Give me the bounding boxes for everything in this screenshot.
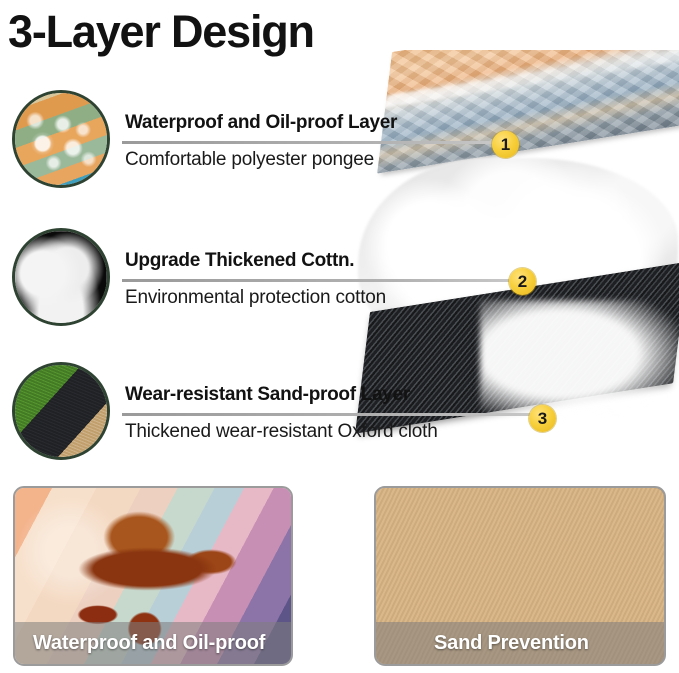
feature-1-subtitle: Comfortable polyester pongee bbox=[125, 149, 374, 171]
feature-3-subtitle: Thickened wear-resistant Oxford cloth bbox=[125, 421, 438, 443]
water-droplets-on-fabric-icon bbox=[15, 93, 107, 185]
page-title: 3-Layer Design bbox=[8, 3, 314, 61]
layer-badge-1: 1 bbox=[492, 131, 519, 158]
feature-1-rule bbox=[122, 141, 505, 144]
photo-panel-sand: Sand Prevention bbox=[374, 486, 666, 666]
feature-2-subtitle: Environmental protection cotton bbox=[125, 287, 386, 309]
thumb-water-droplets bbox=[12, 90, 110, 188]
thumb-grass-mat bbox=[12, 362, 110, 460]
cotton-fiber-icon bbox=[15, 231, 107, 323]
photo-caption-bar-left: Waterproof and Oil-proof bbox=[15, 622, 291, 664]
printed-waterproof-top-sheet bbox=[377, 50, 679, 174]
layer-badge-3: 3 bbox=[529, 405, 556, 432]
photo-panel-waterproof: Waterproof and Oil-proof bbox=[13, 486, 293, 666]
feature-1-title: Waterproof and Oil-proof Layer bbox=[125, 112, 397, 134]
feature-2-rule bbox=[122, 279, 522, 282]
feature-3-title: Wear-resistant Sand-proof Layer bbox=[125, 384, 410, 406]
feature-2-title: Upgrade Thickened Cottn. bbox=[125, 250, 354, 272]
feature-3-rule bbox=[122, 413, 542, 416]
layer-badge-2: 2 bbox=[509, 268, 536, 295]
thumb-cotton bbox=[12, 228, 110, 326]
photo-caption-bar-right: Sand Prevention bbox=[376, 622, 664, 664]
photo-caption-waterproof: Waterproof and Oil-proof bbox=[15, 632, 265, 655]
grass-and-mat-icon bbox=[15, 365, 107, 457]
photo-caption-sand: Sand Prevention bbox=[376, 632, 589, 655]
infographic-page: 3-Layer Design Waterproof and Oil-proof … bbox=[0, 0, 679, 673]
